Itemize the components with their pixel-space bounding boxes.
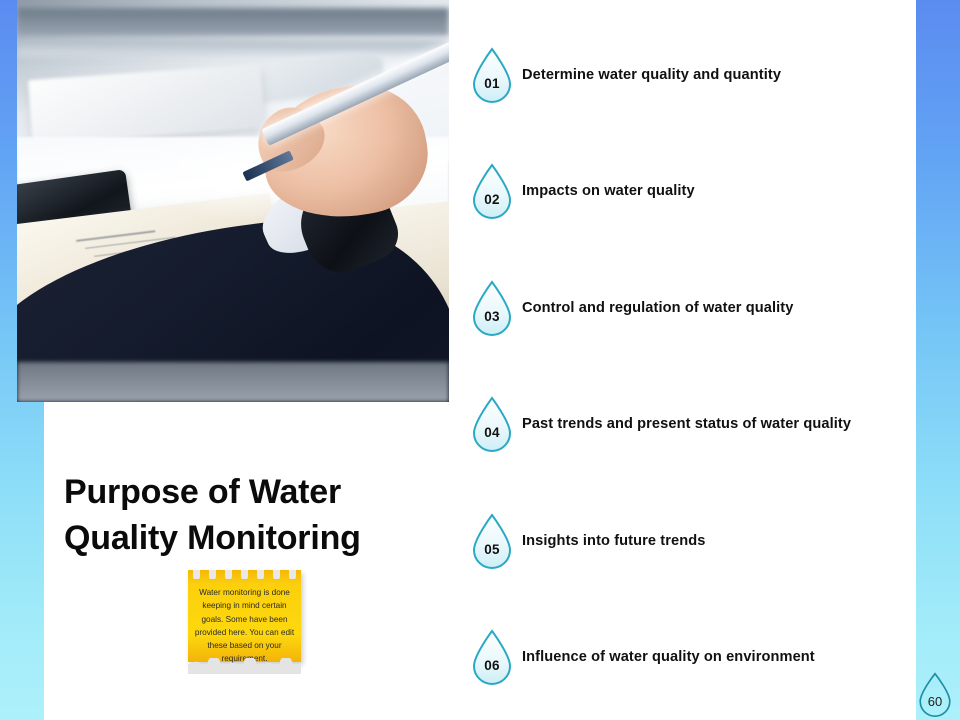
water-drop-icon: 06	[470, 628, 514, 686]
list-item-number: 02	[470, 182, 514, 216]
page-title-line-1: Purpose of Water	[64, 470, 464, 516]
list-item-number: 04	[470, 415, 514, 449]
numbered-list: 01 Determine water quality and quantity …	[470, 0, 930, 720]
water-drop-icon: 02	[470, 162, 514, 220]
list-item-label: Past trends and present status of water …	[522, 416, 851, 432]
list-item-label: Determine water quality and quantity	[522, 67, 781, 83]
list-item[interactable]: 04 Past trends and present status of wat…	[470, 393, 851, 455]
page-title: Purpose of Water Quality Monitoring	[64, 470, 464, 561]
sticky-note-text: Water monitoring is done keeping in mind…	[193, 586, 296, 666]
list-item-number: 01	[470, 66, 514, 100]
list-item[interactable]: 02 Impacts on water quality	[470, 160, 695, 222]
photo-desk-edge-highlight	[17, 40, 449, 56]
sticky-note-torn-edge	[188, 658, 301, 674]
water-drop-icon: 05	[470, 512, 514, 570]
photo-foreground-desk	[17, 362, 449, 402]
right-gradient-strip	[916, 0, 960, 720]
list-item[interactable]: 01 Determine water quality and quantity	[470, 44, 781, 106]
sticky-note: Water monitoring is done keeping in mind…	[188, 570, 301, 676]
list-item-label: Impacts on water quality	[522, 183, 695, 199]
list-item[interactable]: 06 Influence of water quality on environ…	[470, 626, 815, 688]
water-drop-icon: 01	[470, 46, 514, 104]
list-item-label: Influence of water quality on environmen…	[522, 649, 815, 665]
page-number-badge: 60	[914, 670, 956, 718]
list-item-number: 05	[470, 532, 514, 566]
list-item[interactable]: 03 Control and regulation of water quali…	[470, 277, 793, 339]
page-number: 60	[914, 686, 956, 716]
water-drop-icon: 04	[470, 395, 514, 453]
water-drop-icon: 03	[470, 279, 514, 337]
photo-desk-edge	[17, 8, 449, 36]
list-item-label: Control and regulation of water quality	[522, 300, 793, 316]
list-item-number: 06	[470, 648, 514, 682]
list-item-number: 03	[470, 299, 514, 333]
sticky-note-perforation	[188, 570, 301, 582]
hero-photo	[17, 0, 449, 402]
slide-canvas: Purpose of Water Quality Monitoring Wate…	[0, 0, 960, 720]
list-item-label: Insights into future trends	[522, 533, 706, 549]
list-item[interactable]: 05 Insights into future trends	[470, 510, 706, 572]
page-title-line-2: Quality Monitoring	[64, 516, 464, 562]
